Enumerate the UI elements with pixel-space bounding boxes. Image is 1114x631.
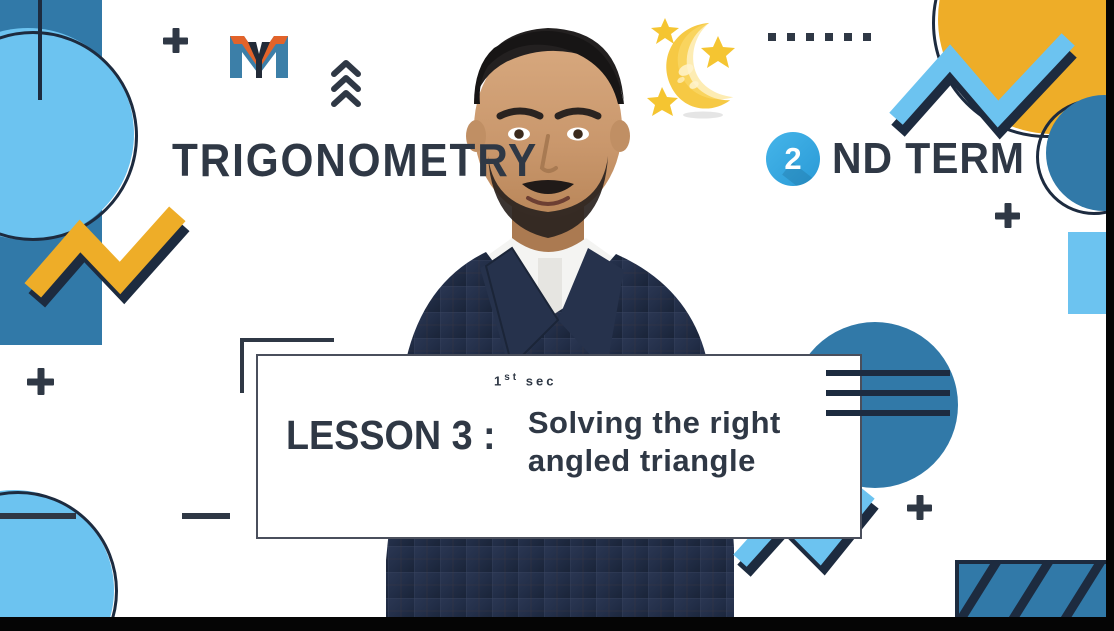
lesson-subject: Solving the right angled triangle bbox=[528, 404, 781, 480]
plus-icon-bottom-left bbox=[27, 368, 54, 395]
dotted-squares-row bbox=[768, 33, 871, 41]
brand-logo-icon bbox=[226, 28, 292, 91]
striped-rectangle bbox=[955, 560, 1114, 622]
term-number-badge: 2 bbox=[766, 132, 820, 186]
lesson-subject-line-2: angled triangle bbox=[528, 442, 781, 480]
grade-ordinal: 1 bbox=[494, 373, 504, 388]
presentation-slide: TRIGONOMETRY 2 ND TERM 1st sec LESSON 3 … bbox=[0, 0, 1114, 631]
chevron-up-icon bbox=[326, 58, 366, 115]
grade-level-label: 1st sec bbox=[494, 372, 556, 388]
grade-stage: sec bbox=[526, 373, 557, 388]
course-title: TRIGONOMETRY bbox=[172, 133, 538, 187]
lesson-subject-line-1: Solving the right bbox=[528, 404, 781, 442]
right-letterbox bbox=[1106, 0, 1114, 631]
plus-icon-bottom-right bbox=[907, 495, 932, 520]
vertical-line-accent bbox=[38, 0, 42, 100]
bottom-letterbox bbox=[0, 617, 1114, 631]
plus-icon-top-left bbox=[163, 28, 188, 53]
term-indicator: 2 ND TERM bbox=[766, 132, 1039, 186]
grade-suffix: st bbox=[504, 372, 519, 383]
term-label: ND TERM bbox=[832, 134, 1025, 184]
term-number: 2 bbox=[784, 141, 801, 177]
moon-and-stars-icon bbox=[645, 14, 760, 129]
dash-accent-left-edge bbox=[0, 513, 76, 519]
plus-icon-top-right bbox=[995, 203, 1020, 228]
three-horizontal-bars bbox=[826, 370, 950, 430]
lesson-title-box: 1st sec LESSON 3 : Solving the right ang… bbox=[256, 354, 862, 539]
lesson-number: LESSON 3 : bbox=[286, 414, 496, 457]
yellow-zigzag-icon bbox=[34, 212, 184, 312]
bottom-left-circle-outline bbox=[0, 491, 118, 631]
dash-accent-left bbox=[182, 513, 230, 519]
top-left-circle-outline bbox=[0, 31, 138, 241]
